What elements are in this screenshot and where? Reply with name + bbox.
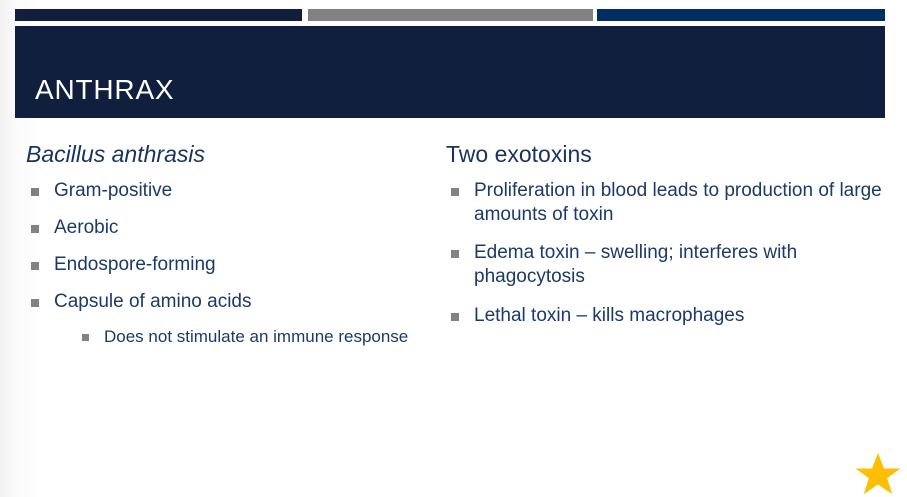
sub-bullet-list-left: Does not stimulate an immune response [78,326,426,348]
list-item: Aerobic [26,216,426,240]
list-item: Endospore-forming [26,253,426,277]
list-item: Edema toxin – swelling; interferes with … [446,241,886,289]
list-item-text: Edema toxin – swelling; interferes with … [474,242,797,287]
list-item-text: Capsule of amino acids [54,291,252,312]
bullet-list-left: Gram-positive Aerobic Endospore-forming … [26,179,426,348]
title-band: ANTHRAX [15,26,885,118]
bullet-square-icon [451,188,459,196]
sub-list-item-text: Does not stimulate an immune response [104,327,408,346]
bullet-square-icon [82,334,89,341]
list-item: Gram-positive [26,179,426,203]
column-heading-left: Bacillus anthrasis [26,140,426,168]
bullet-square-icon [31,299,39,307]
top-strip-middle [308,9,593,21]
column-heading-right: Two exotoxins [446,140,886,168]
list-item-text: Aerobic [54,217,118,238]
bullet-square-icon [451,250,459,258]
star-icon [855,452,901,496]
list-item-text: Endospore-forming [54,254,216,275]
list-item-text: Proliferation in blood leads to producti… [474,180,882,225]
list-item: Proliferation in blood leads to producti… [446,179,886,227]
bullet-square-icon [31,262,39,270]
bullet-square-icon [31,188,39,196]
list-item: Lethal toxin – kills macrophages [446,304,886,328]
sub-list-item: Does not stimulate an immune response [78,326,426,348]
top-strip-right [597,9,885,21]
list-item-text: Gram-positive [54,180,172,201]
bullet-list-right: Proliferation in blood leads to producti… [446,179,886,328]
slide-body: Bacillus anthrasis Gram-positive Aerobic… [0,140,907,497]
content-column-left: Bacillus anthrasis Gram-positive Aerobic… [26,140,426,361]
bullet-square-icon [31,225,39,233]
page-title: ANTHRAX [35,75,174,106]
list-item-text: Lethal toxin – kills macrophages [474,305,744,326]
content-column-right: Two exotoxins Proliferation in blood lea… [446,140,886,342]
list-item: Capsule of amino acids Does not stimulat… [26,290,426,347]
top-strip-left [15,9,302,21]
slide-canvas: ANTHRAX Bacillus anthrasis Gram-positive… [0,0,907,497]
bullet-square-icon [451,313,459,321]
